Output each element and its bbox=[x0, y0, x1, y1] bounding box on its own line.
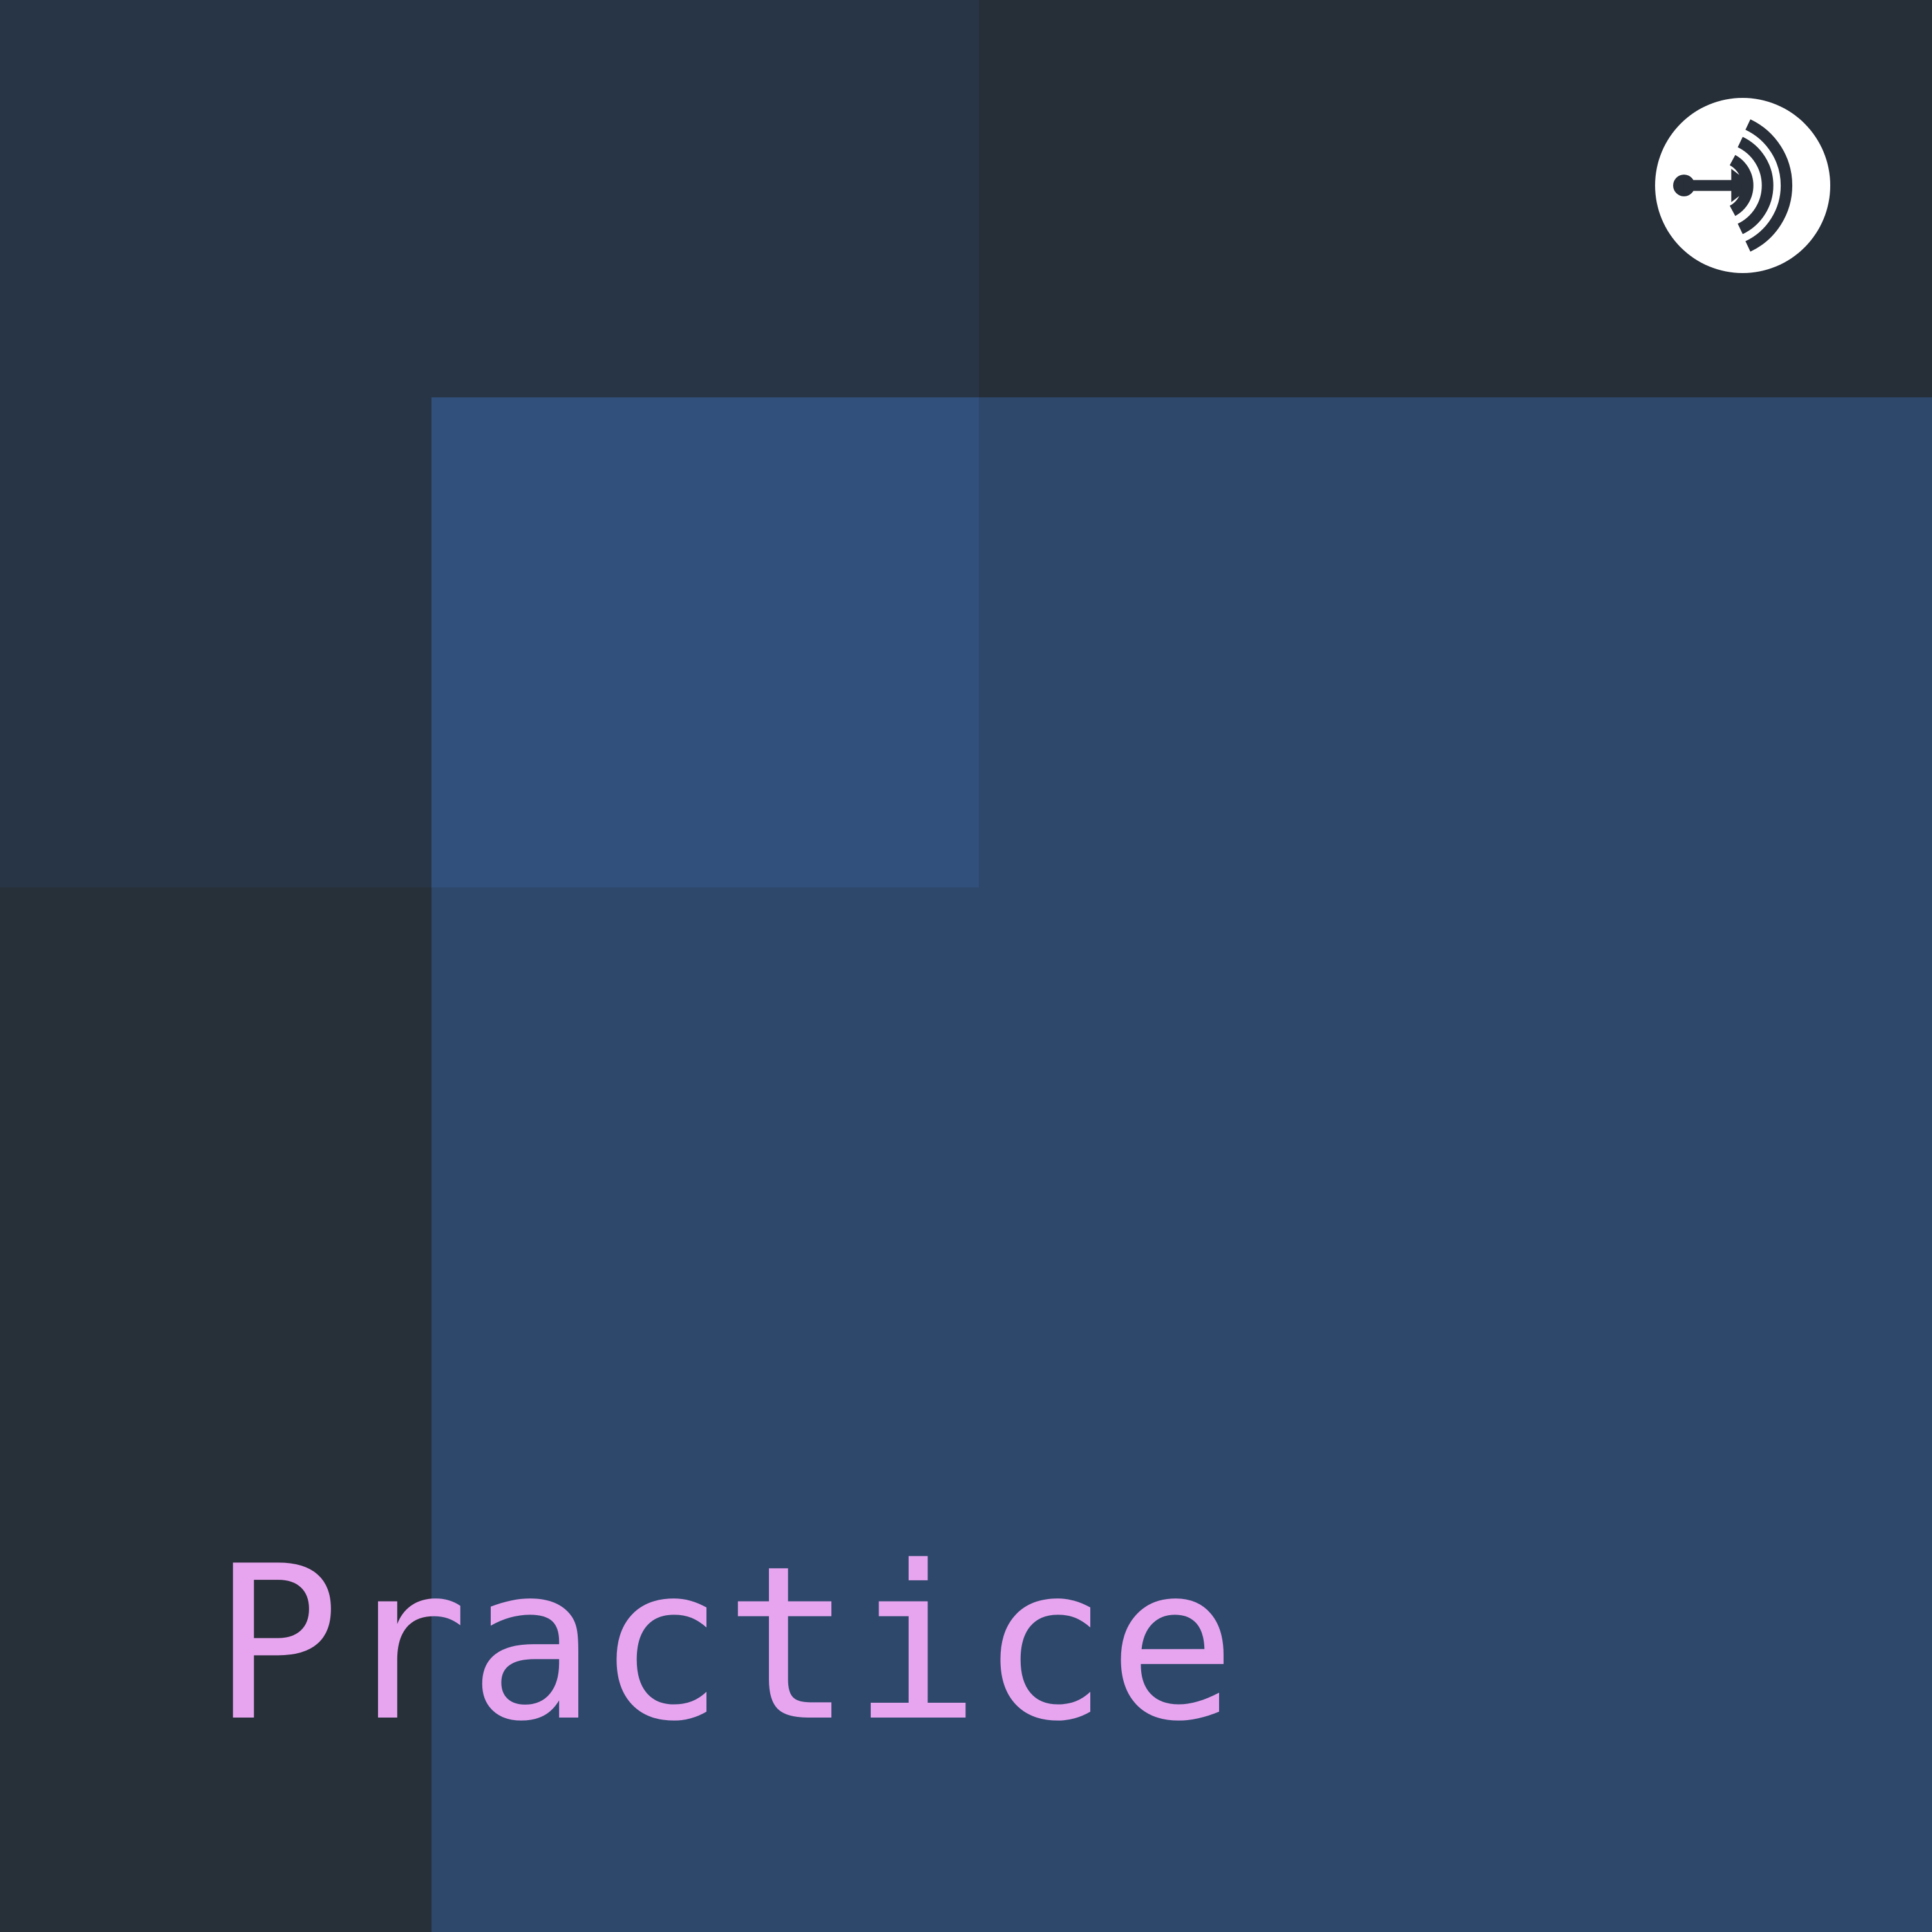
anchor-podcast-logo-icon bbox=[1655, 98, 1830, 273]
background-block-blue-square bbox=[431, 397, 979, 887]
title-line-1: Practice bbox=[213, 1483, 1758, 1806]
podcast-title: Practice Good Habits bbox=[213, 837, 1758, 1932]
podcast-cover-art: Practice Good Habits bbox=[0, 0, 1932, 1932]
